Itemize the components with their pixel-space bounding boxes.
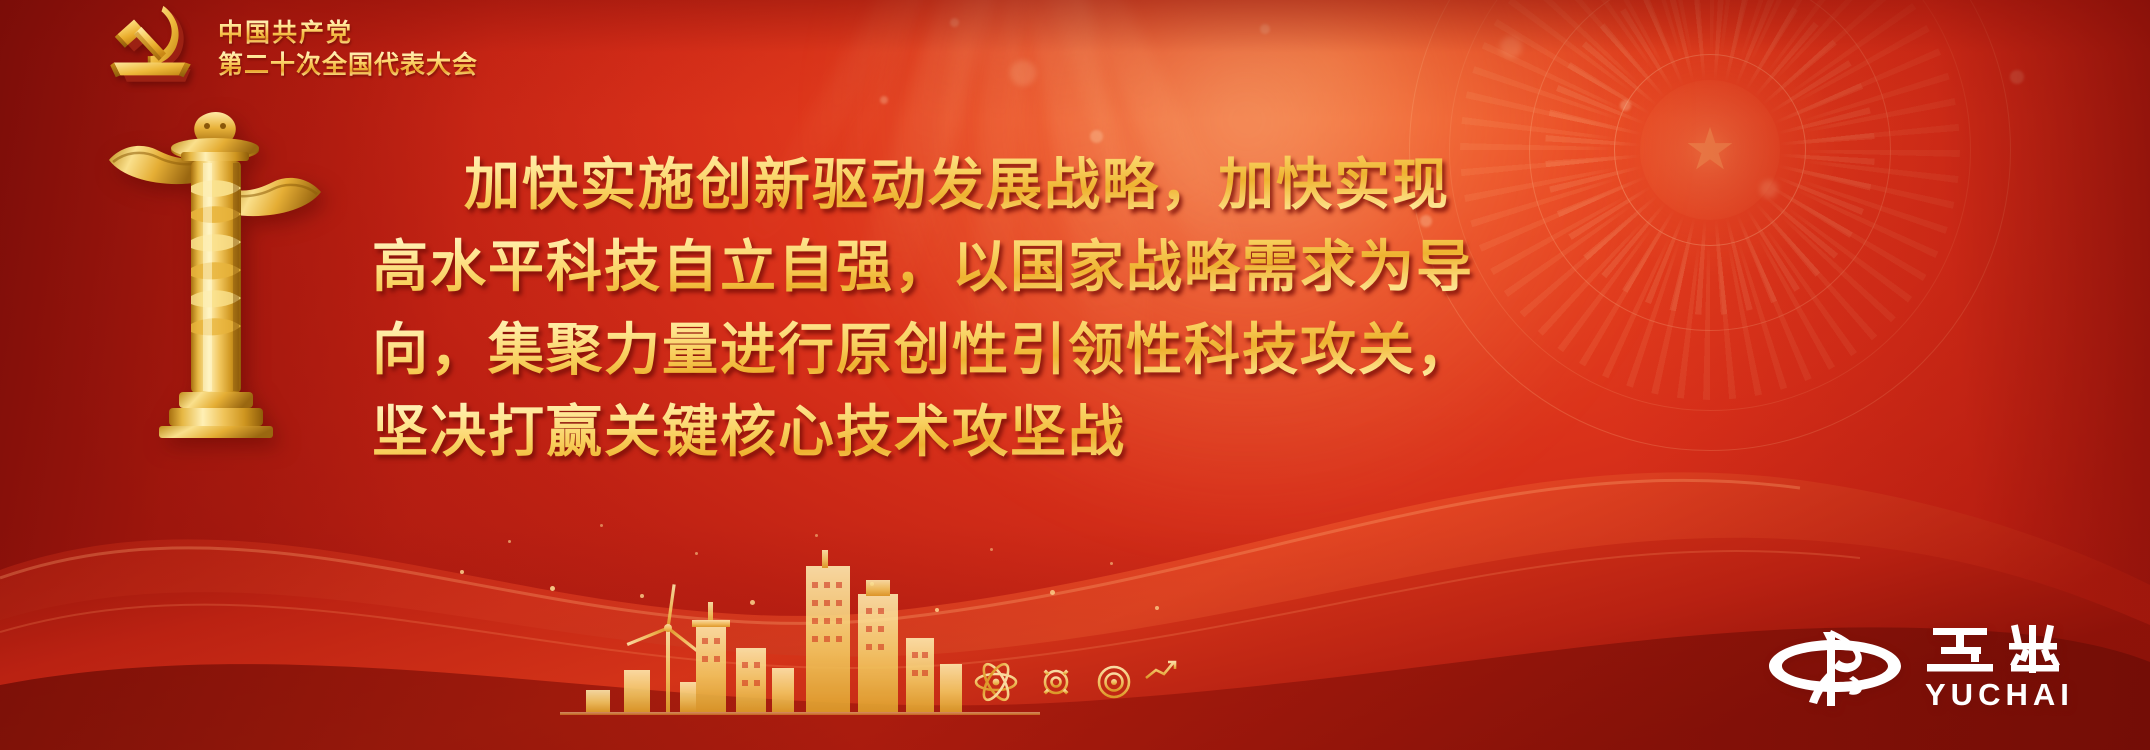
bar-chart-icon (1146, 662, 1175, 696)
yuchai-chinese-name (1925, 621, 2085, 677)
city-skyline-silhouette (520, 542, 1180, 732)
banner-root: ★ (0, 0, 2150, 750)
slogan-line-1: 加快实施创新驱动发展战略，加快实现 (372, 148, 1672, 222)
slogan-block: 加快实施创新驱动发展战略，加快实现 高水平科技自立自强，以国家战略需求为导 向，… (372, 148, 1672, 478)
yuchai-ellipse-mark (1765, 622, 1905, 710)
yuchai-english-name: YUCHAI (1925, 679, 2074, 710)
hammer-and-sickle-party-emblem (110, 4, 202, 90)
gear-icon (1040, 666, 1072, 698)
slogan-line-2: 高水平科技自立自强，以国家战略需求为导 (372, 230, 1672, 304)
huabiao-column (95, 108, 335, 438)
slogan-line-3: 向，集聚力量进行原创性引领性科技攻关， (372, 313, 1672, 387)
atom-icon (976, 661, 1016, 704)
slogan-line-4: 坚决打赢关键核心技术攻坚战 (372, 395, 1672, 469)
congress-title-line2: 第二十次全国代表大会 (218, 51, 478, 80)
yuchai-logo: YUCHAI (1765, 621, 2085, 710)
target-icon (1099, 667, 1129, 697)
congress-title-line1: 中国共产党 (218, 19, 478, 48)
congress-logo: 中国共产党 第二十次全国代表大会 (110, 4, 478, 90)
